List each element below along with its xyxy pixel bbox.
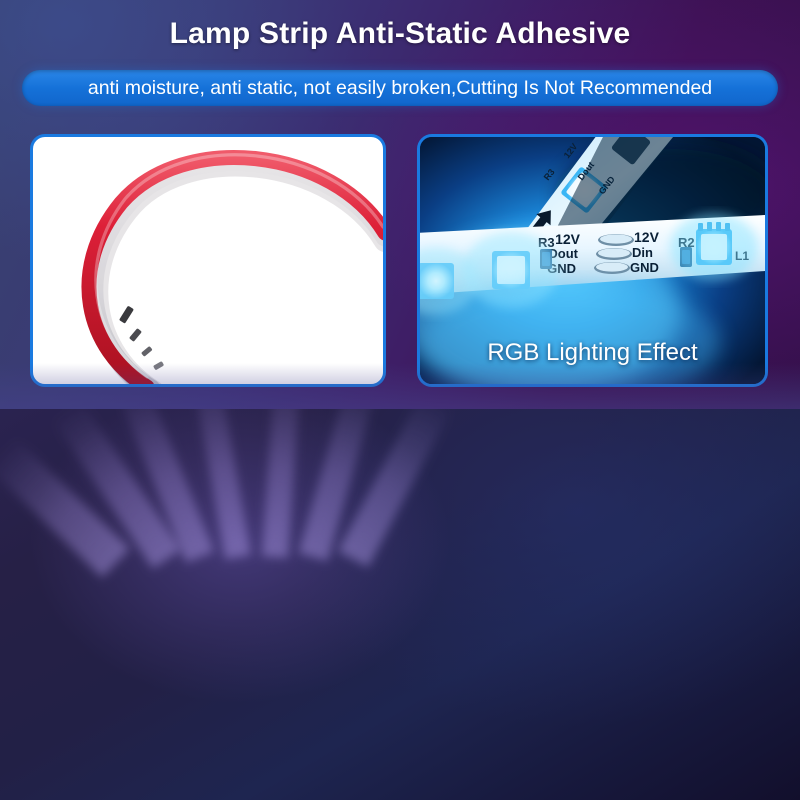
light-ray — [191, 409, 251, 559]
pad-label-gnd-right: GND — [630, 260, 659, 275]
feature-badge: anti moisture, anti static, not easily b… — [22, 70, 778, 106]
light-ray — [299, 409, 381, 561]
top-section: Lamp Strip Anti-Static Adhesive anti moi… — [0, 0, 800, 409]
product-infographic: Lamp Strip Anti-Static Adhesive anti moi… — [0, 0, 800, 800]
red-led-strip-illustration — [33, 137, 383, 384]
feature-section: Radiating Thermal Design for Longer Life… — [0, 409, 800, 800]
light-ray — [52, 409, 181, 569]
pad-label-12v-right: 12V — [634, 229, 660, 245]
flexible-strip-photo-card — [30, 134, 386, 387]
pad-label-12v-left: 12V — [555, 231, 581, 247]
feature-badge-label: anti moisture, anti static, not easily b… — [88, 77, 712, 100]
light-ray — [262, 409, 302, 558]
page-title: Lamp Strip Anti-Static Adhesive — [0, 17, 800, 51]
solder-pads — [594, 234, 634, 274]
light-ray — [115, 409, 214, 563]
rgb-caption: RGB Lighting Effect — [420, 339, 765, 367]
light-ray — [0, 437, 130, 577]
pad-label-din: Din — [632, 245, 653, 260]
light-ray — [338, 409, 453, 567]
rgb-effect-photo-card: 12V Dout GND R3 — [417, 134, 768, 387]
